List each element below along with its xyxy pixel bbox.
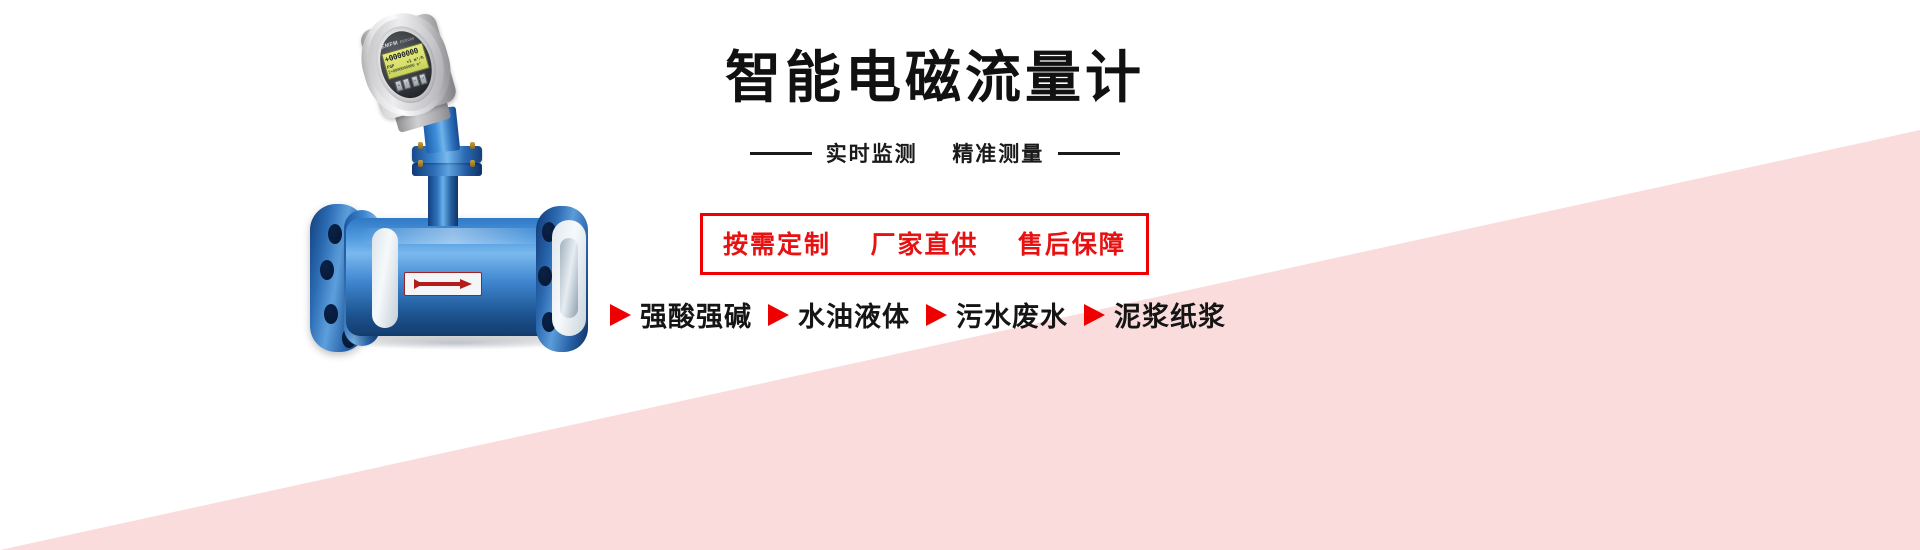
feature-label: 强酸强碱: [640, 295, 752, 334]
flange-bolt-hole: [320, 260, 334, 280]
product-banner: EMFMEEE000 +0000000 FGP ×1 m³/h Σ+000000…: [0, 0, 1920, 550]
flange-bolt: [470, 142, 475, 149]
subtitle: 实时监测 精准测量: [826, 138, 1045, 168]
feature-label: 泥浆纸浆: [1114, 295, 1226, 334]
flow-direction-arrow-icon: [404, 272, 482, 296]
banner-content: 智能电磁流量计 实时监测 精准测量 按需定制 厂家直供 售后保障 强酸强碱: [600, 0, 1920, 550]
flange-bolt-hole: [324, 304, 338, 324]
feature-item: 水油液体: [768, 295, 910, 334]
feature-list: 强酸强碱 水油液体 污水废水 泥浆纸浆: [610, 295, 1230, 334]
arrow-right-icon: [926, 304, 947, 326]
rule-left: [750, 152, 812, 155]
arrow-glyph: [414, 279, 472, 289]
arrow-stem: [414, 282, 460, 286]
transmitter-head: EMFMEEE000 +0000000 FGP ×1 m³/h Σ+000000…: [347, 0, 468, 137]
body-liner: [372, 228, 398, 328]
subtitle-left: 实时监测: [826, 142, 918, 166]
flange-bolt-hole: [328, 224, 342, 244]
arrow-right-icon: [610, 304, 631, 326]
tagline-item-2: 厂家直供: [870, 230, 978, 259]
arrow-right-icon: [768, 304, 789, 326]
flange-bolt: [470, 160, 475, 167]
tagline-item-3: 售后保障: [1018, 230, 1126, 259]
feature-item: 强酸强碱: [610, 295, 752, 334]
tagline-item-1: 按需定制: [723, 230, 831, 259]
product-image: EMFMEEE000 +0000000 FGP ×1 m³/h Σ+000000…: [300, 0, 630, 420]
tagline-box: 按需定制 厂家直供 售后保障: [700, 213, 1149, 275]
right-flange-bore: [560, 238, 578, 318]
tagline-text: 按需定制 厂家直供 售后保障: [723, 225, 1126, 261]
flange-bolt: [418, 142, 423, 149]
subtitle-row: 实时监测 精准测量: [675, 138, 1195, 168]
feature-item: 泥浆纸浆: [1084, 295, 1226, 334]
flange-bolt: [418, 160, 423, 167]
feature-label: 污水废水: [956, 295, 1068, 334]
rule-right: [1058, 152, 1120, 155]
feature-item: 污水废水: [926, 295, 1068, 334]
keypad-button[interactable]: ⏎: [418, 73, 428, 85]
subtitle-right: 精准测量: [952, 142, 1044, 166]
page-title: 智能电磁流量计: [675, 48, 1195, 110]
flange-bolt-hole: [538, 266, 552, 286]
riser-neck: [428, 174, 458, 226]
brand-model: EEE000: [399, 36, 415, 44]
arrow-tip: [460, 279, 472, 289]
feature-label: 水油液体: [798, 295, 910, 334]
arrow-right-icon: [1084, 304, 1105, 326]
